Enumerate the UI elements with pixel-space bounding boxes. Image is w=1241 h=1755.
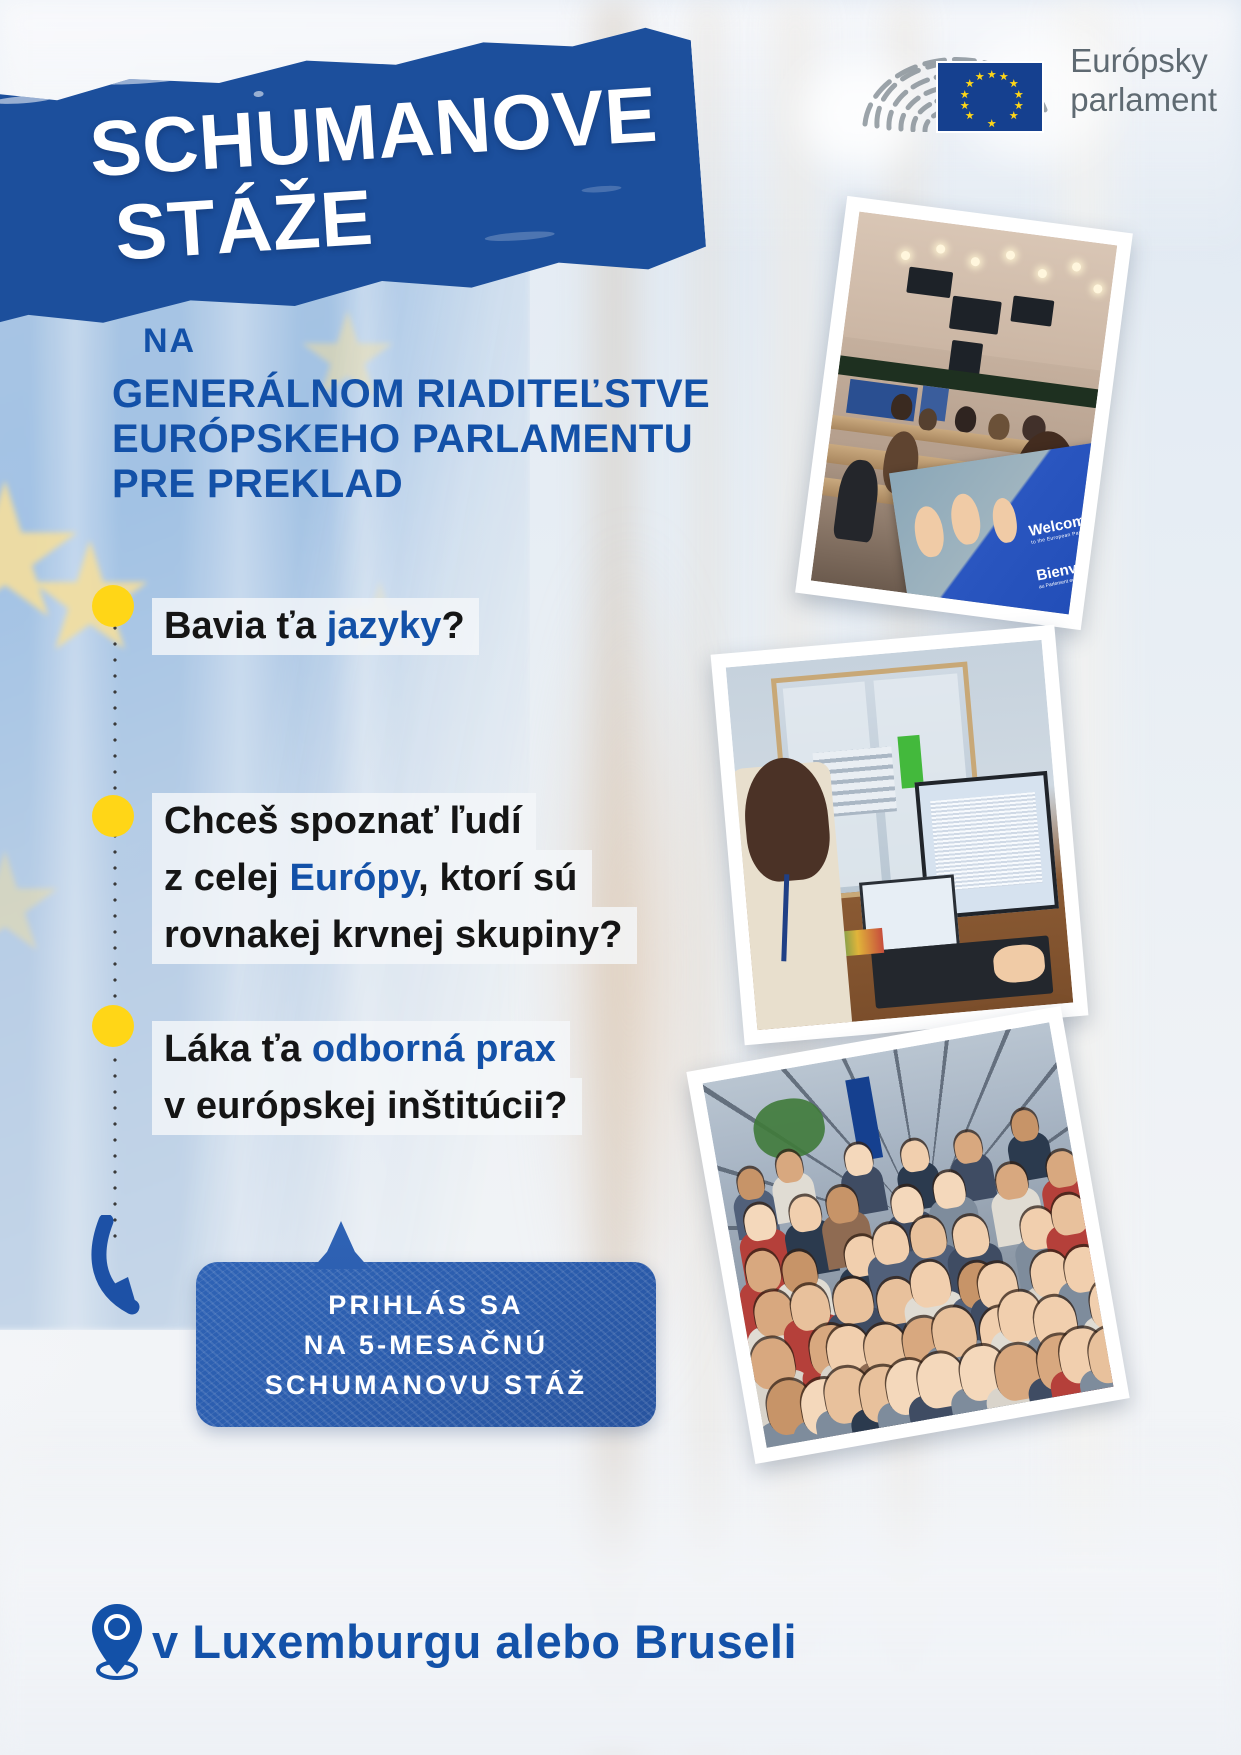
background-floor — [0, 1425, 1241, 1755]
brochure-welcome-text: Welcometo the European Parliament — [1027, 510, 1099, 546]
apply-cta-bubble[interactable]: PRIHLÁS SA NA 5-MESAČNÚ SCHUMANOVU STÁŽ — [196, 1262, 656, 1427]
question-block-people: Chceš spoznať ľudíz celej Európy, ktorí … — [152, 793, 637, 964]
curved-arrow-icon — [88, 1215, 208, 1325]
timeline-dot — [92, 795, 134, 837]
logo-text: Európsky parlament — [1070, 41, 1217, 119]
question-line: Bavia ťa jazyky? — [152, 598, 479, 655]
timeline-dot — [92, 1005, 134, 1047]
photo-hemicycle: Welcometo the European Parliament Bienve… — [811, 212, 1117, 615]
question-line: Láka ťa odborná prax — [152, 1021, 570, 1078]
question-line: v európskej inštitúcii? — [152, 1078, 582, 1135]
question-text: , ktorí sú — [418, 857, 577, 899]
dotted-timeline — [113, 620, 117, 1250]
timeline-dot — [92, 585, 134, 627]
location-line: v Luxemburgu alebo Bruseli — [86, 1600, 797, 1682]
logo-text-line-1: Európsky — [1070, 41, 1217, 80]
photo-group — [703, 1022, 1114, 1448]
photo-translator — [726, 640, 1074, 1030]
subtitle-line-2: EURÓPSKEHO PARLAMENTU — [112, 417, 832, 462]
brochure-welcome-subtext: to the European Parliament — [1031, 527, 1099, 547]
question-line: z celej Európy, ktorí sú — [152, 850, 592, 907]
eu-flag-backdrop — [0, 150, 530, 1330]
question-line: Chceš spoznať ľudí — [152, 793, 536, 850]
european-parliament-logo: Európsky parlament — [851, 28, 1217, 132]
logo-mark — [851, 28, 1056, 132]
photo-card-translator — [711, 625, 1089, 1046]
cta-line-2: NA 5-MESAČNÚ — [265, 1325, 588, 1365]
question-highlight: Európy — [289, 857, 418, 899]
question-text: rovnakej krvnej skupiny? — [164, 914, 623, 956]
subtitle-prefix: NA — [143, 322, 196, 361]
welcome-brochure: Welcometo the European Parliament Bienve… — [889, 442, 1117, 614]
question-line: rovnakej krvnej skupiny? — [152, 907, 637, 964]
question-text: z celej — [164, 857, 289, 899]
cta-text: PRIHLÁS SA NA 5-MESAČNÚ SCHUMANOVU STÁŽ — [265, 1285, 588, 1405]
subtitle-line-1: GENERÁLNOM RIADITEĽSTVE — [112, 372, 832, 417]
subtitle-line-3: PRE PREKLAD — [112, 462, 832, 507]
cta-line-3: SCHUMANOVU STÁŽ — [265, 1365, 588, 1405]
question-block-internship: Láka ťa odborná praxv európskej inštitúc… — [152, 1021, 582, 1135]
question-text: ? — [441, 605, 464, 647]
photo-card-group — [686, 1006, 1129, 1464]
eu-flag-icon — [936, 61, 1044, 133]
question-highlight: odborná prax — [312, 1028, 556, 1070]
map-pin-icon — [86, 1600, 148, 1682]
location-text: v Luxemburgu alebo Bruseli — [152, 1614, 797, 1669]
question-text: Chceš spoznať ľudí — [164, 800, 522, 842]
question-text: Bavia ťa — [164, 605, 327, 647]
photo-card-hemicycle: Welcometo the European Parliament Bienve… — [795, 196, 1133, 630]
question-text: v európskej inštitúcii? — [164, 1085, 568, 1127]
question-text: Láka ťa — [164, 1028, 312, 1070]
subtitle-block: GENERÁLNOM RIADITEĽSTVE EURÓPSKEHO PARLA… — [112, 372, 832, 507]
question-highlight: jazyky — [327, 605, 442, 647]
question-block-languages: Bavia ťa jazyky? — [152, 598, 479, 655]
logo-text-line-2: parlament — [1070, 80, 1217, 119]
cta-line-1: PRIHLÁS SA — [265, 1285, 588, 1325]
poster-root: SCHUMANOVE STÁŽE — [0, 0, 1241, 1755]
